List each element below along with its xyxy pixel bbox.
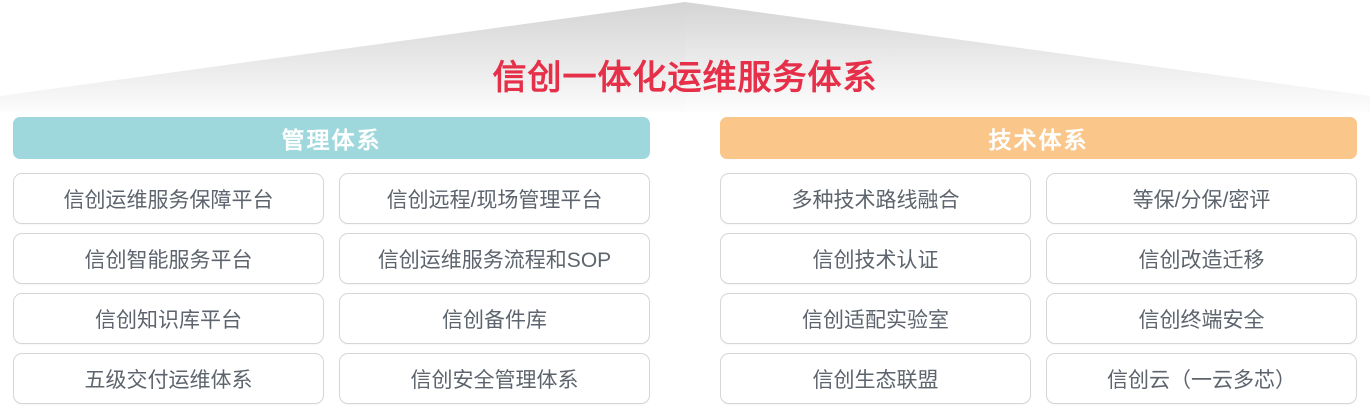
column-technology-1: 多种技术路线融合 信创技术认证 信创适配实验室 信创生态联盟 [720, 173, 1031, 404]
card-item[interactable]: 等保/分保/密评 [1046, 173, 1357, 224]
column-management-1: 信创运维服务保障平台 信创智能服务平台 信创知识库平台 五级交付运维体系 [13, 173, 324, 404]
group-header-management: 管理体系 [13, 117, 650, 159]
card-item[interactable]: 信创运维服务保障平台 [13, 173, 324, 224]
group-technology: 技术体系 多种技术路线融合 信创技术认证 信创适配实验室 信创生态联盟 等保/分… [720, 117, 1357, 404]
column-management-2: 信创远程/现场管理平台 信创运维服务流程和SOP 信创备件库 信创安全管理体系 [339, 173, 650, 404]
card-item[interactable]: 多种技术路线融合 [720, 173, 1031, 224]
card-item[interactable]: 信创改造迁移 [1046, 233, 1357, 284]
card-item[interactable]: 信创备件库 [339, 293, 650, 344]
card-item[interactable]: 信创适配实验室 [720, 293, 1031, 344]
group-header-technology: 技术体系 [720, 117, 1357, 159]
card-item[interactable]: 信创终端安全 [1046, 293, 1357, 344]
card-item[interactable]: 五级交付运维体系 [13, 353, 324, 404]
page-title: 信创一体化运维服务体系 [0, 56, 1370, 100]
group-management-columns: 信创运维服务保障平台 信创智能服务平台 信创知识库平台 五级交付运维体系 信创远… [13, 173, 650, 404]
column-technology-2: 等保/分保/密评 信创改造迁移 信创终端安全 信创云（一云多芯） [1046, 173, 1357, 404]
group-technology-columns: 多种技术路线融合 信创技术认证 信创适配实验室 信创生态联盟 等保/分保/密评 … [720, 173, 1357, 404]
group-management: 管理体系 信创运维服务保障平台 信创智能服务平台 信创知识库平台 五级交付运维体… [13, 117, 650, 404]
card-item[interactable]: 信创云（一云多芯） [1046, 353, 1357, 404]
card-item[interactable]: 信创技术认证 [720, 233, 1031, 284]
card-item[interactable]: 信创智能服务平台 [13, 233, 324, 284]
card-item[interactable]: 信创安全管理体系 [339, 353, 650, 404]
card-item[interactable]: 信创知识库平台 [13, 293, 324, 344]
groups-container: 管理体系 信创运维服务保障平台 信创智能服务平台 信创知识库平台 五级交付运维体… [0, 117, 1370, 404]
infographic-root: 信创一体化运维服务体系 管理体系 信创运维服务保障平台 信创智能服务平台 信创知… [0, 0, 1370, 418]
card-item[interactable]: 信创运维服务流程和SOP [339, 233, 650, 284]
card-item[interactable]: 信创远程/现场管理平台 [339, 173, 650, 224]
card-item[interactable]: 信创生态联盟 [720, 353, 1031, 404]
